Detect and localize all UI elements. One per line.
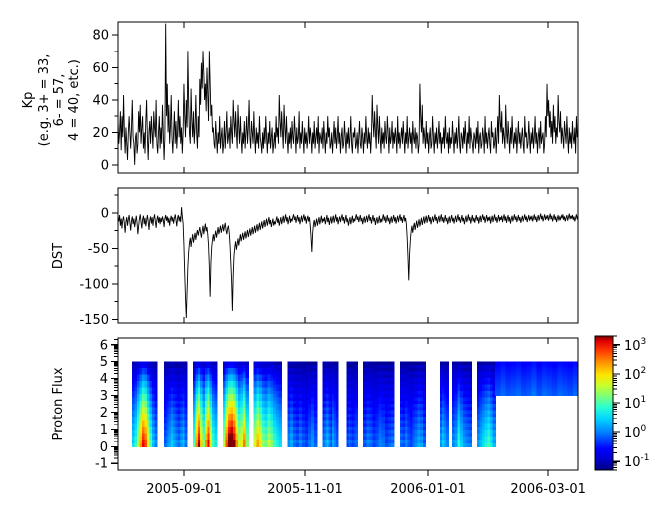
proton-flux-y-tick-label: 4 xyxy=(100,372,108,387)
x-axis-date-label: 2006-01-01 xyxy=(390,482,466,497)
colorbar-gradient xyxy=(595,336,613,470)
kp-axis-label-line-0: Kp xyxy=(21,92,36,109)
kp-y-tick-label: 0 xyxy=(101,158,109,173)
proton-flux-y-tick-label: 1 xyxy=(100,423,108,438)
kp-y-tick-label: 60 xyxy=(92,61,109,76)
heatmap-block xyxy=(193,362,218,447)
kp-y-tick-label: 80 xyxy=(92,28,109,43)
heatmap-block xyxy=(323,362,339,447)
dst-y-tick-label: -100 xyxy=(79,277,109,292)
heatmap-block xyxy=(400,362,426,447)
heatmap-block xyxy=(477,362,496,447)
kp-axis-label-line-3: 4 = 40, etc.) xyxy=(67,59,82,141)
heatmap-block xyxy=(363,362,394,447)
heatmap-block xyxy=(495,362,578,396)
kp-axis-label-line-2: 6- = 57, xyxy=(52,74,67,127)
dst-y-tick-label: -50 xyxy=(88,242,109,257)
proton-flux-y-tick-label: 0 xyxy=(100,440,108,455)
heatmap-block xyxy=(223,362,249,447)
proton-flux-y-tick-label: 6 xyxy=(100,338,108,353)
proton-flux-y-tick-label: -1 xyxy=(95,457,108,472)
heatmap-block xyxy=(452,362,472,447)
x-axis-date-label: 2005-11-01 xyxy=(267,482,343,497)
heatmap-block xyxy=(164,362,188,447)
proton-flux-axis-label: Proton Flux xyxy=(51,367,66,440)
x-axis-date-label: 2005-09-01 xyxy=(146,482,222,497)
kp-axis-label-line-1: (e.g. 3+ = 33, xyxy=(37,54,52,147)
heatmap-block xyxy=(254,362,282,447)
heatmap-block xyxy=(440,362,449,447)
heatmap-block xyxy=(347,362,358,447)
heatmap-block xyxy=(287,362,317,447)
kp-y-tick-label: 40 xyxy=(92,93,109,108)
dst-y-tick-label: 0 xyxy=(101,206,109,221)
x-axis-date-label: 2006-03-01 xyxy=(510,482,586,497)
figure-container: Kp (e.g. 3+ = 33, 6- = 57, 4 = 40, etc.)… xyxy=(0,0,665,523)
multi-panel-chart: Kp (e.g. 3+ = 33, 6- = 57, 4 = 40, etc.)… xyxy=(0,0,665,523)
dst-axis-label: DST xyxy=(51,243,66,269)
heatmap-block xyxy=(132,362,158,447)
proton-flux-y-tick-label: 2 xyxy=(100,406,108,421)
proton-flux-y-tick-label: 3 xyxy=(100,389,108,404)
proton-flux-y-tick-label: 5 xyxy=(100,355,108,370)
kp-y-tick-label: 20 xyxy=(92,126,109,141)
dst-y-tick-label: -150 xyxy=(79,313,109,328)
